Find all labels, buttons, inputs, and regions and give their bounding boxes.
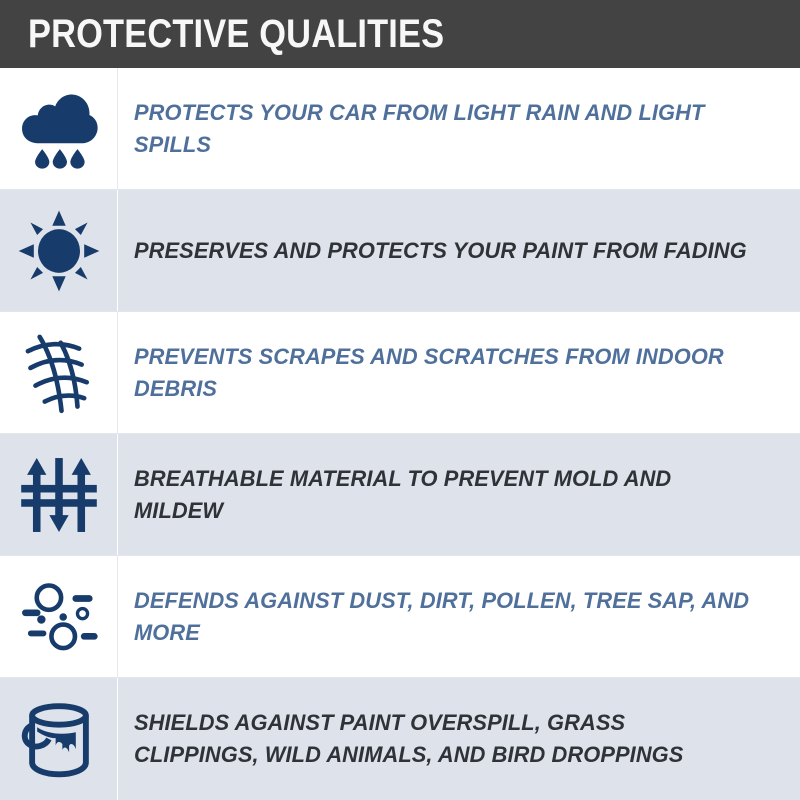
feature-row: PREVENTS SCRAPES AND SCRATCHES FROM INDO… — [0, 312, 800, 434]
feature-row: PRESERVES AND PROTECTS YOUR PAINT FROM F… — [0, 190, 800, 312]
page-title: PROTECTIVE QUALITIES — [28, 14, 444, 54]
icon-cell — [0, 556, 118, 678]
paint-can-icon — [17, 697, 101, 781]
feature-label: PREVENTS SCRAPES AND SCRATCHES FROM INDO… — [134, 341, 755, 405]
icon-cell — [0, 68, 118, 190]
text-cell: BREATHABLE MATERIAL TO PREVENT MOLD AND … — [118, 434, 800, 556]
feature-row: PROTECTS YOUR CAR FROM LIGHT RAIN AND LI… — [0, 68, 800, 190]
feature-list: PROTECTS YOUR CAR FROM LIGHT RAIN AND LI… — [0, 68, 800, 800]
icon-cell — [0, 678, 118, 800]
feature-label: SHIELDS AGAINST PAINT OVERSPILL, GRASS C… — [134, 707, 755, 771]
breathable-airflow-icon — [17, 453, 101, 537]
sun-icon — [17, 209, 101, 293]
feature-label: PRESERVES AND PROTECTS YOUR PAINT FROM F… — [134, 235, 747, 267]
feature-row: SHIELDS AGAINST PAINT OVERSPILL, GRASS C… — [0, 678, 800, 800]
text-cell: PROTECTS YOUR CAR FROM LIGHT RAIN AND LI… — [118, 68, 800, 190]
text-cell: SHIELDS AGAINST PAINT OVERSPILL, GRASS C… — [118, 678, 800, 800]
feature-row: DEFENDS AGAINST DUST, DIRT, POLLEN, TREE… — [0, 556, 800, 678]
icon-cell — [0, 434, 118, 556]
scratches-icon — [17, 331, 101, 415]
text-cell: DEFENDS AGAINST DUST, DIRT, POLLEN, TREE… — [118, 556, 800, 678]
text-cell: PRESERVES AND PROTECTS YOUR PAINT FROM F… — [118, 190, 800, 312]
feature-label: BREATHABLE MATERIAL TO PREVENT MOLD AND … — [134, 463, 755, 527]
header-bar: PROTECTIVE QUALITIES — [0, 0, 800, 68]
rain-cloud-icon — [17, 87, 101, 171]
icon-cell — [0, 190, 118, 312]
dust-particles-icon — [17, 575, 101, 659]
feature-row: BREATHABLE MATERIAL TO PREVENT MOLD AND … — [0, 434, 800, 556]
protective-qualities-infographic: PROTECTIVE QUALITIES PROTECTS YOUR CAR F… — [0, 0, 800, 800]
feature-label: DEFENDS AGAINST DUST, DIRT, POLLEN, TREE… — [134, 585, 755, 649]
feature-label: PROTECTS YOUR CAR FROM LIGHT RAIN AND LI… — [134, 97, 755, 161]
icon-cell — [0, 312, 118, 434]
text-cell: PREVENTS SCRAPES AND SCRATCHES FROM INDO… — [118, 312, 800, 434]
